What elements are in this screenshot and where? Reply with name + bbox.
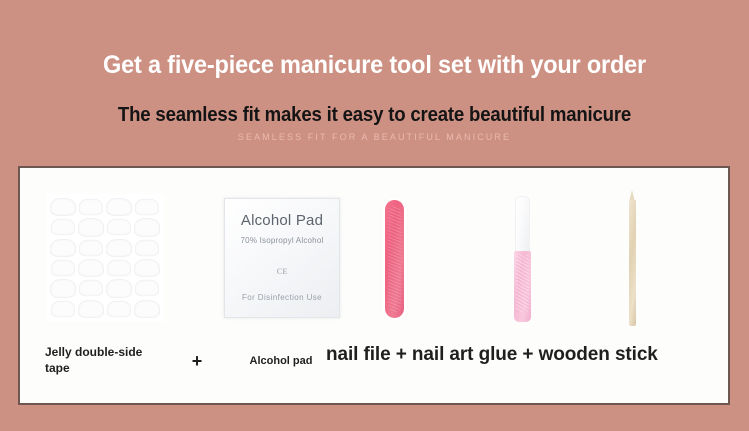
- tape-tab: [135, 280, 159, 297]
- jelly-tape-grid: [50, 198, 160, 318]
- tape-tab: [134, 300, 160, 318]
- tape-tab: [79, 239, 103, 256]
- ce-mark-icon: CE: [225, 267, 339, 276]
- wooden-stick-image: [629, 190, 636, 326]
- tape-tab: [106, 198, 132, 216]
- tape-tab: [51, 260, 75, 277]
- tape-tab: [78, 300, 104, 318]
- nail-file-image: [385, 200, 404, 318]
- tape-tab: [107, 300, 131, 317]
- tape-tab: [135, 239, 159, 256]
- product-panel: Alcohol Pad 70% Isopropyl Alcohol CE For…: [18, 166, 730, 405]
- caption-plus-separator: +: [182, 351, 212, 371]
- alcohol-pad-subtitle: 70% Isopropyl Alcohol: [225, 236, 339, 245]
- product-panel-inner: Alcohol Pad 70% Isopropyl Alcohol CE For…: [20, 168, 728, 403]
- glue-cap: [515, 196, 530, 254]
- tape-tab: [51, 219, 75, 236]
- product-image-row: Alcohol Pad 70% Isopropyl Alcohol CE For…: [20, 168, 728, 336]
- jelly-tape-image: [46, 194, 164, 322]
- tape-tab: [106, 279, 132, 297]
- tape-tab: [78, 259, 104, 277]
- tape-tab: [107, 219, 131, 236]
- subheadline: The seamless fit makes it easy to create…: [26, 103, 723, 127]
- glue-body: [514, 251, 531, 322]
- tape-tab: [50, 239, 76, 257]
- page-title: Get a five-piece manicure tool set with …: [22, 50, 726, 80]
- eyebrow-text: SEAMLESS FIT FOR A BEAUTIFUL MANICURE: [0, 131, 749, 143]
- alcohol-pad-footer: For Disinfection Use: [225, 293, 339, 302]
- tape-tab: [50, 279, 76, 297]
- caption-jelly-tape: Jelly double-side tape: [45, 344, 165, 376]
- tape-tab: [78, 218, 104, 236]
- tape-tab: [107, 260, 131, 277]
- promo-banner: Get a five-piece manicure tool set with …: [0, 0, 749, 431]
- tape-tab: [134, 259, 160, 277]
- tape-tab: [135, 199, 159, 216]
- wooden-stick-body: [629, 200, 636, 326]
- tape-tab: [79, 199, 103, 216]
- product-caption-row: Jelly double-side tape + Alcohol pad nai…: [20, 332, 728, 403]
- alcohol-pad-title: Alcohol Pad: [225, 212, 339, 229]
- tape-tab: [106, 239, 132, 257]
- tape-tab: [51, 300, 75, 317]
- nail-art-glue-image: [514, 196, 531, 322]
- alcohol-pad-image: Alcohol Pad 70% Isopropyl Alcohol CE For…: [224, 198, 340, 318]
- tape-tab: [134, 218, 160, 236]
- caption-tools-list: nail file + nail art glue + wooden stick: [326, 342, 726, 368]
- tape-tab: [50, 198, 76, 216]
- tape-tab: [79, 280, 103, 297]
